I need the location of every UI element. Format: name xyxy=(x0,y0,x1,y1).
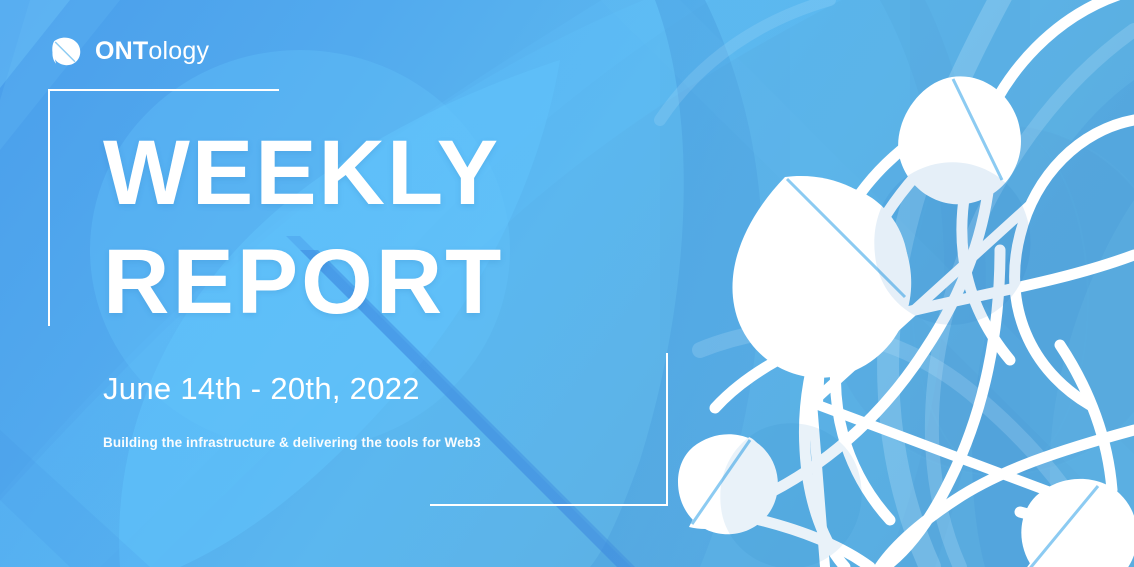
date-range-text: June 14th - 20th, 2022 xyxy=(103,371,504,407)
bracket-vertical-line xyxy=(666,353,668,506)
ontology-leaf-mark xyxy=(48,33,84,69)
headline-line-report: REPORT xyxy=(103,239,504,326)
bracket-horizontal-line xyxy=(48,89,279,91)
headline-line-weekly: WEEKLY xyxy=(103,130,504,217)
bracket-vertical-line xyxy=(48,89,50,326)
brand-bold-text: ONT xyxy=(95,37,148,65)
brand-logo[interactable]: ONTology xyxy=(48,33,209,69)
tagline-text: Building the infrastructure & delivering… xyxy=(103,435,504,450)
weekly-report-banner: ONTology WEEKLY REPORT June 14th - 20th,… xyxy=(0,0,1134,567)
headline-block: WEEKLY REPORT June 14th - 20th, 2022 Bui… xyxy=(103,130,504,450)
leaf-node-bottom-right xyxy=(1018,479,1134,567)
bracket-horizontal-line xyxy=(430,504,668,506)
brand-wordmark: ONTology xyxy=(95,39,209,64)
brand-light-text: ology xyxy=(148,37,209,65)
